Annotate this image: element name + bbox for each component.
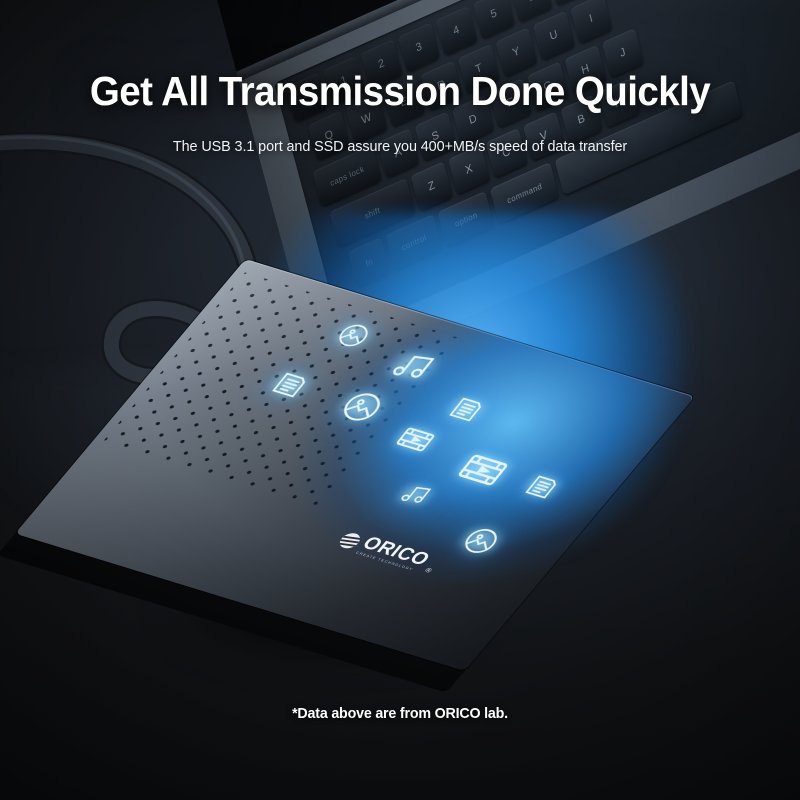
subheadline: The USB 3.1 port and SSD assure you 400+… [16,138,784,155]
headline: Get All Transmission Done Quickly [24,68,776,115]
vignette-overlay [0,0,800,800]
footnote: *Data above are from ORICO lab. [20,705,780,722]
product-banner: ~ 1 2 3 4 5 6 7 8 Q W E R T Y U I ca [0,0,800,800]
